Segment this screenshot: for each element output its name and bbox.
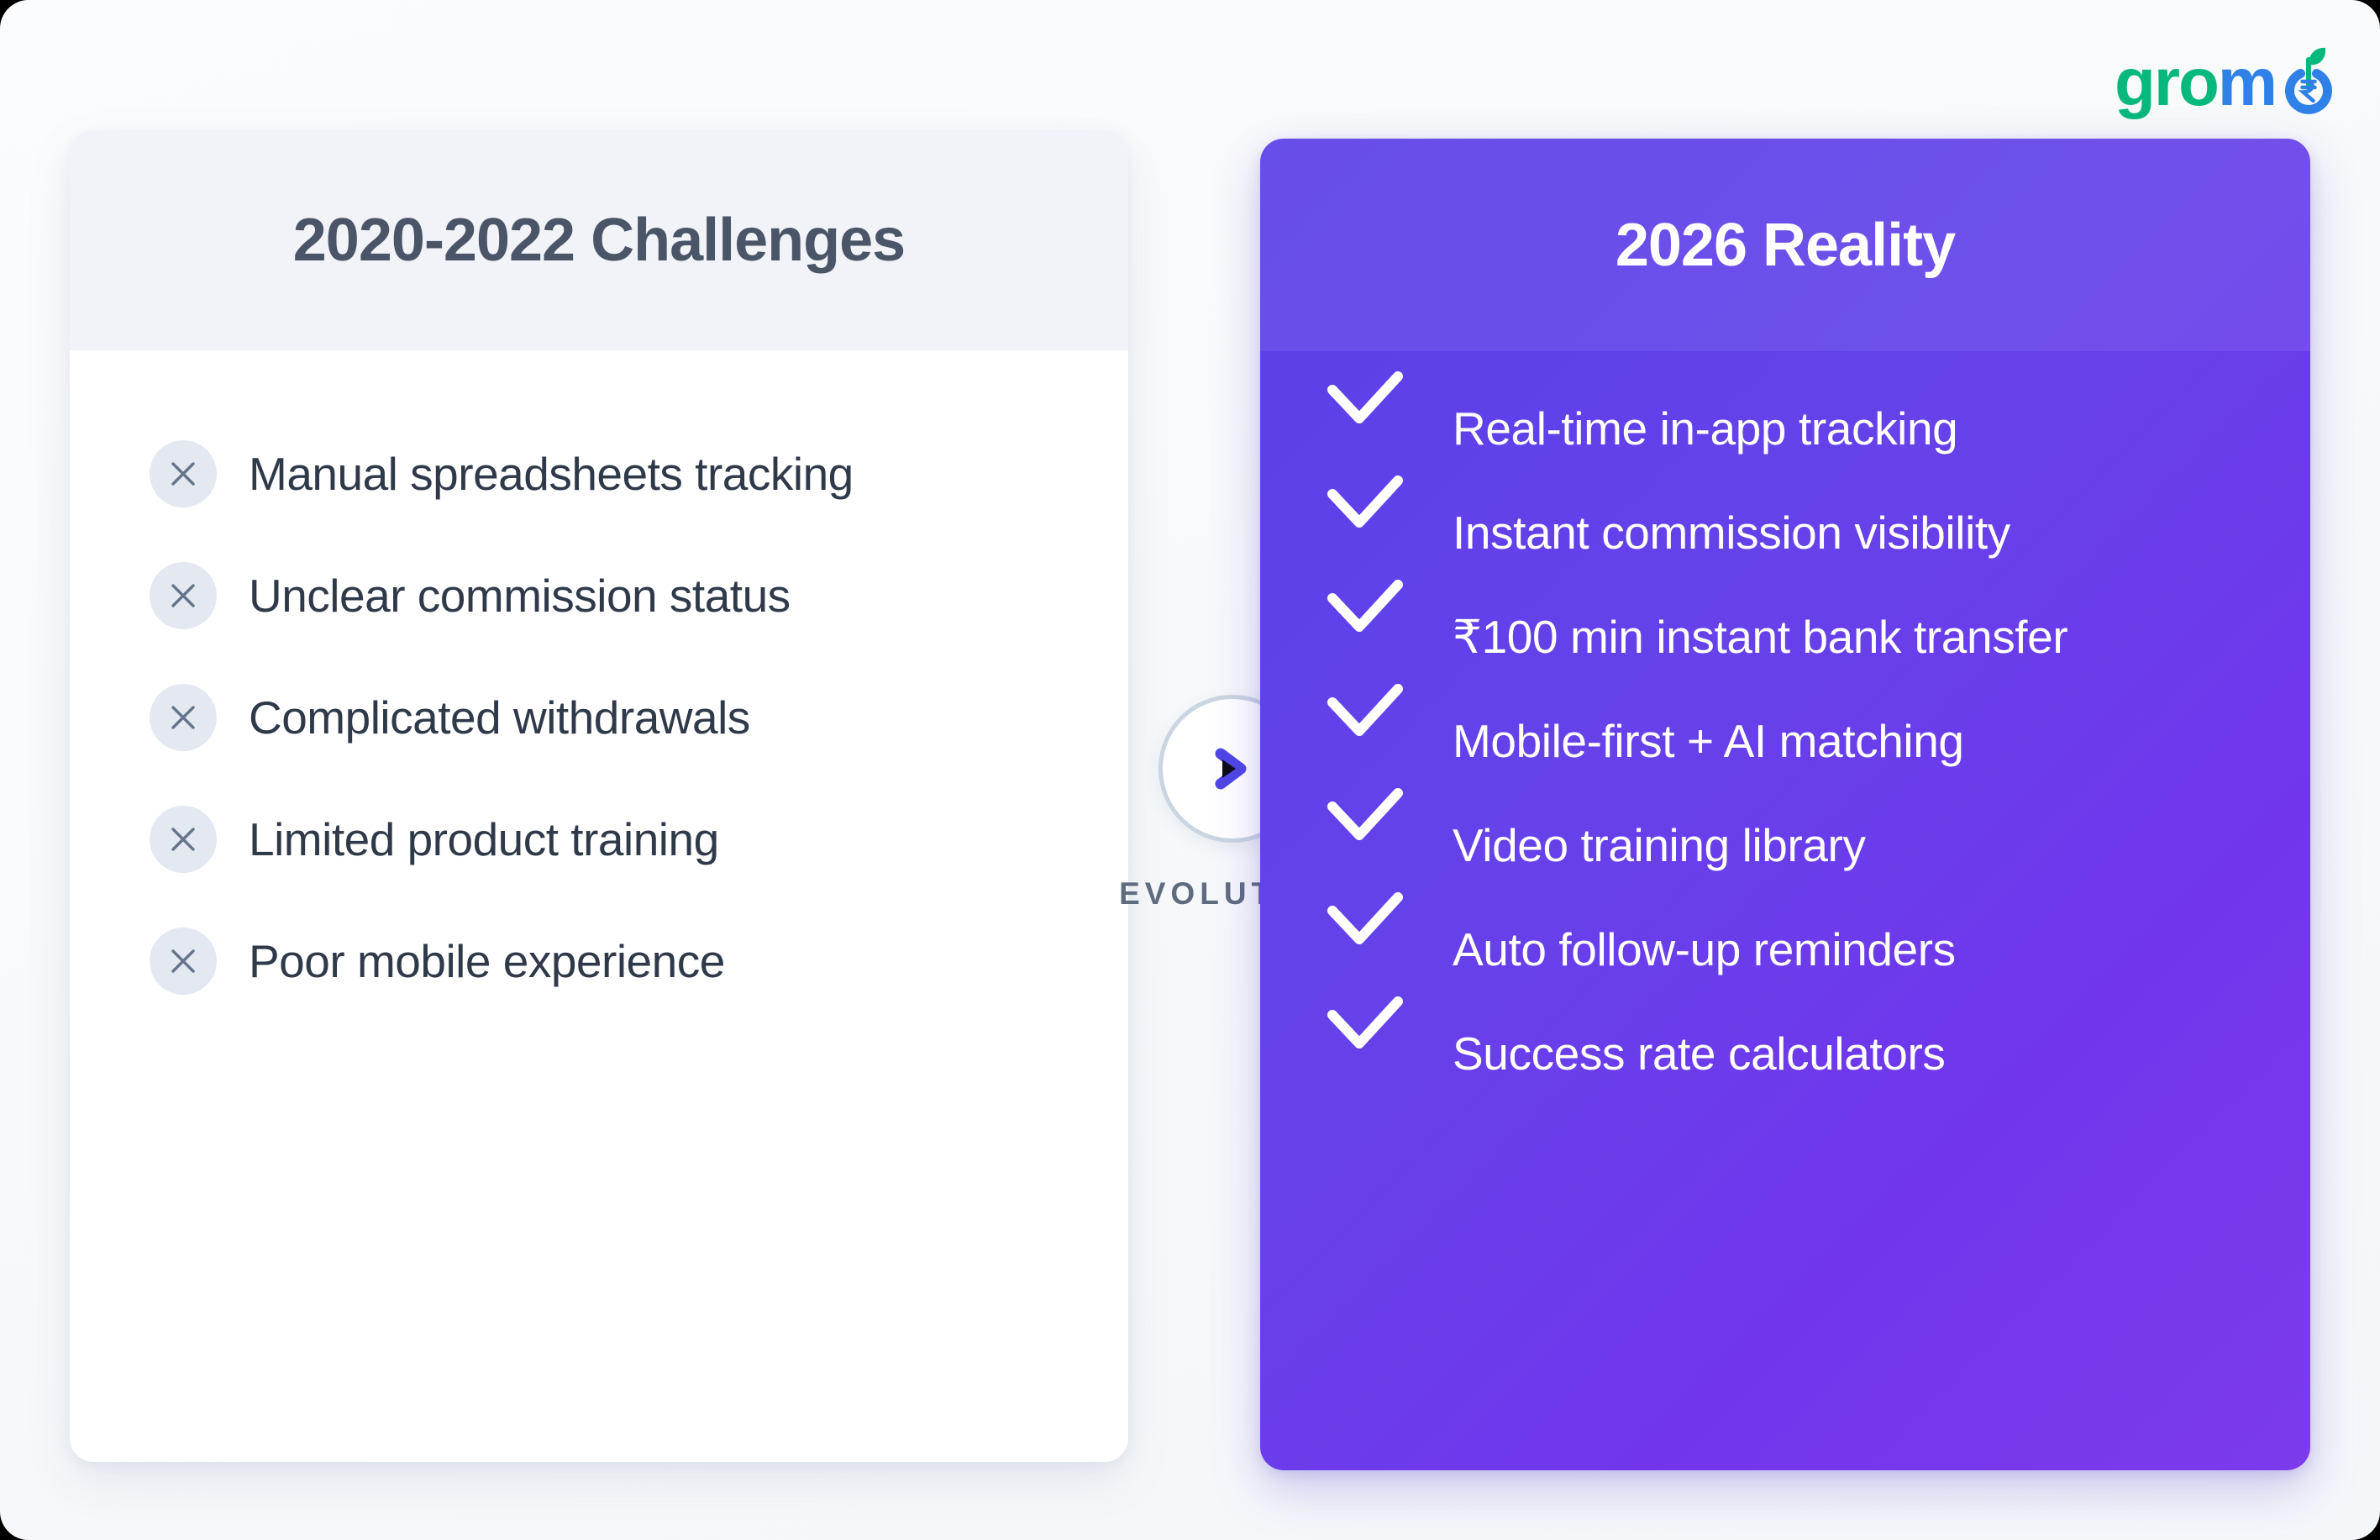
list-item-label: Success rate calculators: [1453, 1027, 1945, 1080]
list-item[interactable]: Video training library: [1260, 793, 2310, 897]
x-circle-icon: [150, 684, 217, 751]
check-icon: [1326, 993, 1418, 1059]
comparison-infographic: grom 2020-2022 Challenges: [0, 0, 2380, 1540]
check-icon: [1326, 368, 1418, 434]
check-icon: [1326, 681, 1418, 746]
list-item[interactable]: Success rate calculators: [1260, 1001, 2310, 1106]
list-item[interactable]: Auto follow-up reminders: [1260, 897, 2310, 1001]
check-icon: [1326, 576, 1418, 642]
list-item[interactable]: Poor mobile experience: [70, 900, 1128, 1022]
challenges-list: Manual spreadsheets tracking Unclear com…: [70, 413, 1128, 1022]
x-circle-icon: [150, 806, 217, 873]
challenges-title: 2020-2022 Challenges: [293, 206, 905, 275]
list-item-label: ₹100 min instant bank transfer: [1453, 610, 2067, 664]
list-item[interactable]: Unclear commission status: [70, 534, 1128, 656]
list-item-label: Real-time in-app tracking: [1453, 402, 1957, 455]
list-item-label: Instant commission visibility: [1453, 506, 2010, 560]
list-item-label: Manual spreadsheets tracking: [249, 447, 854, 501]
list-item[interactable]: Real-time in-app tracking: [1260, 376, 2310, 481]
list-item-label: Video training library: [1453, 818, 1866, 872]
list-item-label: Limited product training: [249, 812, 719, 866]
list-item-label: Unclear commission status: [249, 569, 791, 623]
rupee-sprout-icon: [2278, 46, 2340, 118]
reality-title: 2026 Reality: [1616, 211, 1955, 280]
list-item[interactable]: Limited product training: [70, 778, 1128, 900]
list-item[interactable]: Mobile-first + AI matching: [1260, 689, 2310, 793]
list-item-label: Poor mobile experience: [249, 934, 725, 988]
play-chevron-icon: [1197, 733, 1268, 804]
list-item[interactable]: Complicated withdrawals: [70, 656, 1128, 778]
x-circle-icon: [150, 440, 217, 507]
x-circle-icon: [150, 562, 217, 629]
logo-text-gro: gro: [2115, 49, 2218, 116]
reality-card: 2026 Reality Real-time in-app tracking: [1260, 139, 2310, 1470]
challenges-card-header: 2020-2022 Challenges: [70, 130, 1128, 350]
check-icon: [1326, 472, 1418, 538]
x-circle-icon: [150, 928, 217, 995]
check-icon: [1326, 785, 1418, 850]
check-icon: [1326, 889, 1418, 954]
logo-wordmark: grom: [2115, 49, 2276, 116]
list-item-label: Auto follow-up reminders: [1453, 922, 1956, 976]
challenges-card: 2020-2022 Challenges Manual spreadsheets…: [70, 130, 1128, 1462]
challenges-card-body: Manual spreadsheets tracking Unclear com…: [70, 350, 1128, 1022]
list-item-label: Complicated withdrawals: [249, 691, 750, 744]
list-item[interactable]: Instant commission visibility: [1260, 481, 2310, 585]
reality-card-header: 2026 Reality: [1260, 139, 2310, 351]
reality-card-body: Real-time in-app tracking Instant commis…: [1260, 351, 2310, 1106]
logo-text-m: m: [2218, 49, 2276, 116]
reality-list: Real-time in-app tracking Instant commis…: [1260, 376, 2310, 1106]
list-item[interactable]: ₹100 min instant bank transfer: [1260, 585, 2310, 689]
gromo-logo: grom: [2115, 46, 2340, 118]
list-item[interactable]: Manual spreadsheets tracking: [70, 413, 1128, 534]
list-item-label: Mobile-first + AI matching: [1453, 714, 1964, 768]
